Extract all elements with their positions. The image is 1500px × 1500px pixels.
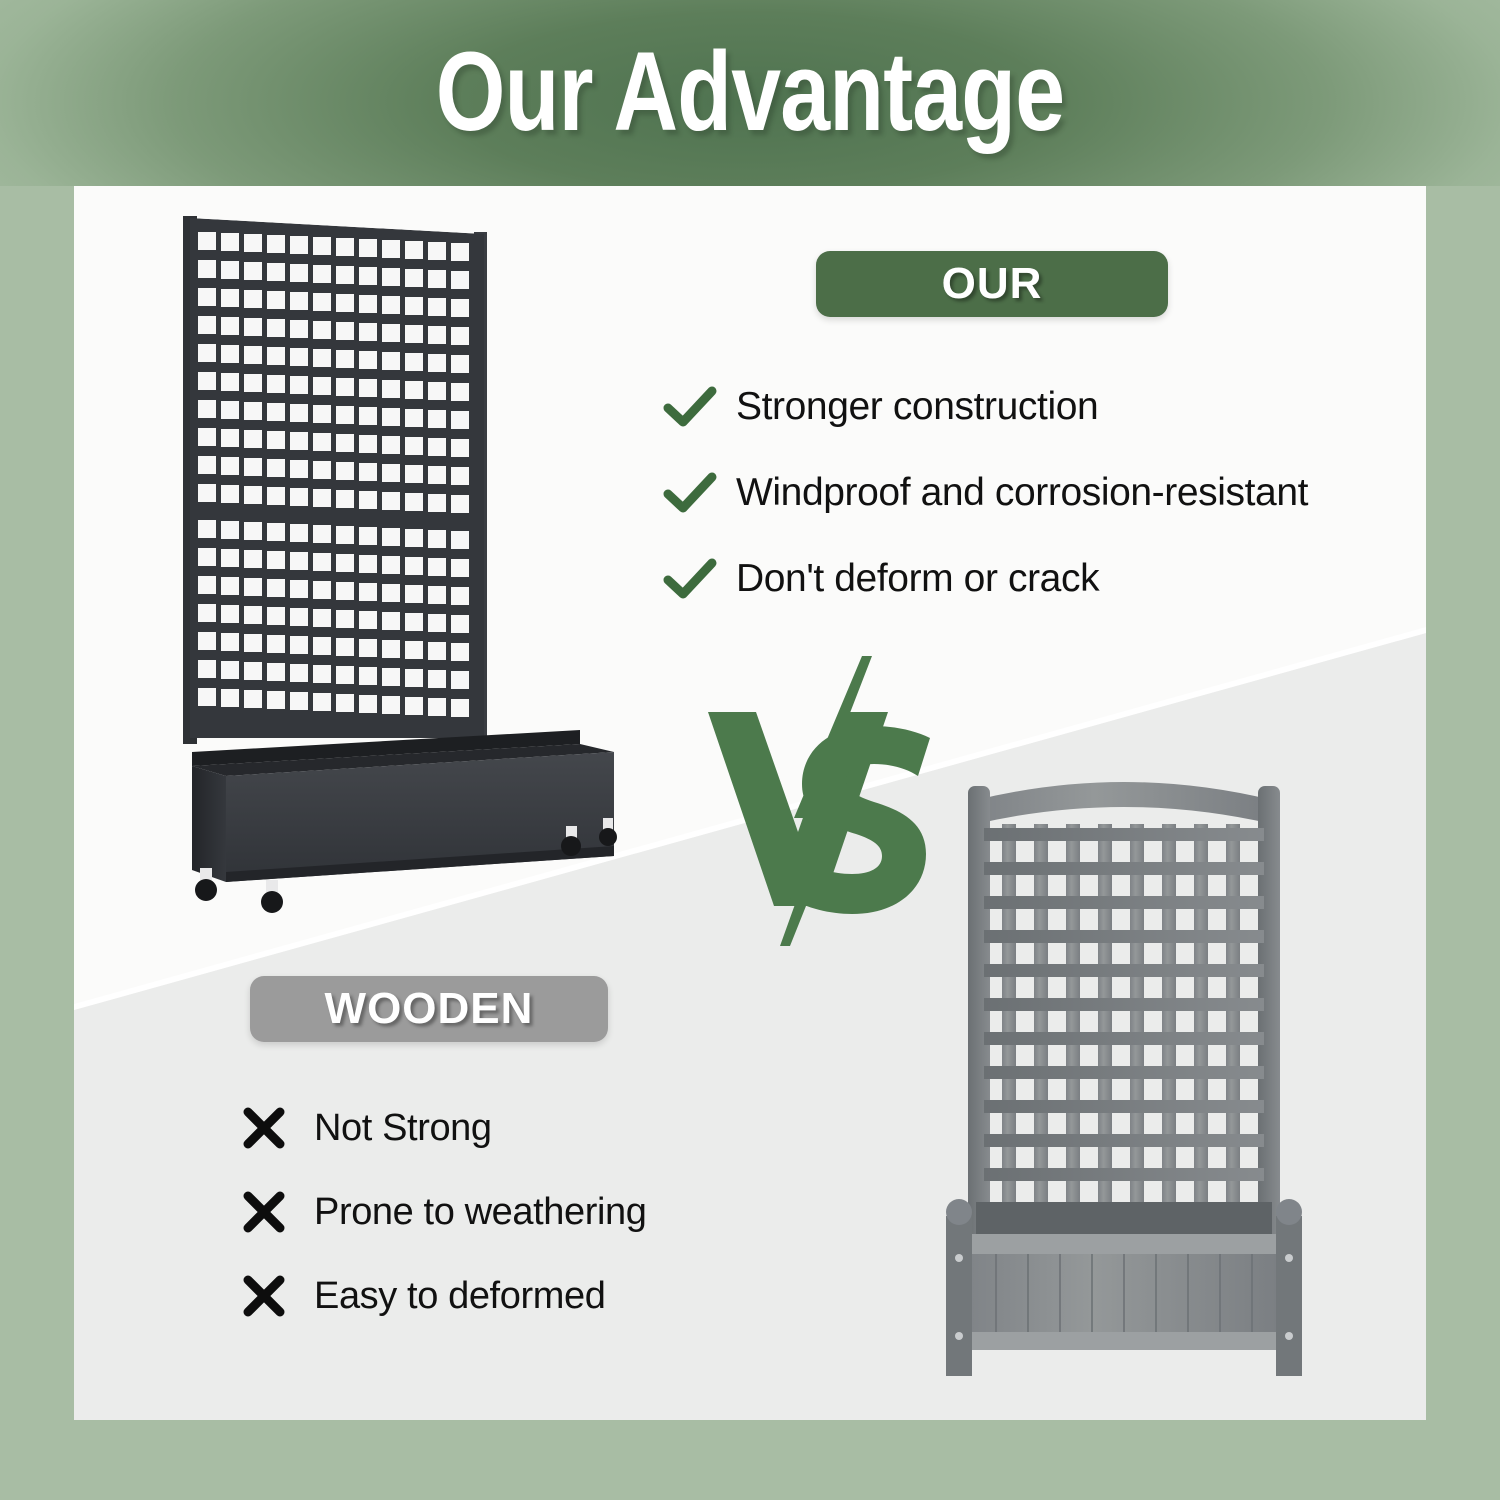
poster-root: Our Advantage	[0, 0, 1500, 1500]
check-icon	[644, 471, 736, 515]
page-title: Our Advantage	[150, 36, 1350, 148]
list-item: Don't deform or crack	[644, 536, 1404, 622]
list-item: Easy to deformed	[214, 1254, 814, 1338]
wooden-left-post	[968, 786, 990, 1266]
list-item: Prone to weathering	[214, 1170, 814, 1254]
metal-trellis-planter-image	[174, 196, 644, 926]
list-item-label: Windproof and corrosion-resistant	[736, 471, 1308, 515]
comparison-panel: OUR WOODEN Stronger construction Windpro…	[74, 186, 1426, 1420]
list-item-label: Stronger construction	[736, 385, 1098, 429]
metal-planter-box	[192, 730, 614, 882]
wooden-right-post	[1258, 786, 1280, 1266]
wooden-trellis-planter-image	[924, 746, 1324, 1406]
wooden-arch-top	[976, 782, 1272, 824]
metal-trellis-grid	[190, 218, 484, 738]
badge-wooden: WOODEN	[250, 976, 608, 1042]
list-item-label: Prone to weathering	[314, 1191, 647, 1234]
x-icon	[214, 1273, 314, 1319]
wooden-feature-list: Not Strong Prone to weathering Easy to d…	[214, 1086, 814, 1338]
our-feature-list: Stronger construction Windproof and corr…	[644, 364, 1404, 622]
badge-our-label: OUR	[942, 259, 1043, 309]
list-item-label: Not Strong	[314, 1107, 492, 1150]
check-icon	[644, 557, 736, 601]
versus-badge	[694, 656, 954, 946]
x-icon	[214, 1105, 314, 1151]
list-item: Not Strong	[214, 1086, 814, 1170]
wooden-planter-svg	[924, 746, 1324, 1406]
list-item: Windproof and corrosion-resistant	[644, 450, 1404, 536]
badge-our: OUR	[816, 251, 1168, 317]
vs-lightning-icon	[694, 656, 954, 946]
list-item-label: Easy to deformed	[314, 1275, 605, 1318]
wooden-lattice-horizontals	[984, 828, 1264, 1249]
list-item: Stronger construction	[644, 364, 1404, 450]
list-item-label: Don't deform or crack	[736, 557, 1099, 601]
check-icon	[644, 385, 736, 429]
badge-wooden-label: WOODEN	[325, 984, 534, 1034]
wooden-planter-box	[946, 1199, 1302, 1376]
metal-planter-svg	[174, 196, 644, 926]
x-icon	[214, 1189, 314, 1235]
